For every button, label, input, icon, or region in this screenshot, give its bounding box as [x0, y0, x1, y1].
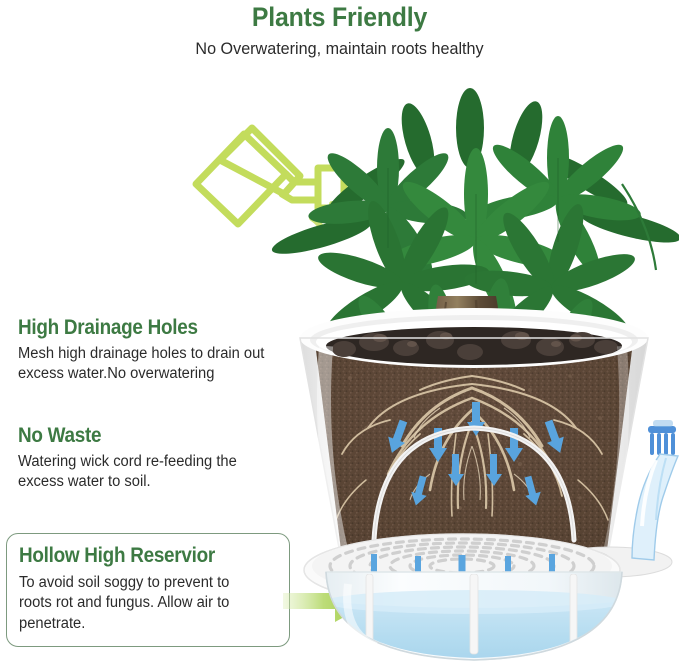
feature-body: To avoid soil soggy to prevent to roots …: [19, 573, 264, 634]
feature-heading: No Waste: [18, 424, 254, 448]
feature-no-waste: No Waste Watering wick cord re-feeding t…: [18, 424, 280, 493]
feature-body: Mesh high drainage holes to drain out ex…: [18, 344, 267, 385]
lava-rock-top-dressing: [326, 327, 622, 365]
feature-heading: Hollow High Reservior: [19, 544, 251, 568]
planter-illustration: [270, 88, 679, 664]
water-reservoir: [310, 572, 638, 664]
page-title: Plants Friendly: [27, 0, 652, 33]
blue-watering-spout-icon: [632, 420, 678, 560]
water-stream: [632, 454, 678, 560]
feature-hollow-high-reservior: Hollow High Reservior To avoid soil sogg…: [6, 533, 290, 647]
feature-heading: High Drainage Holes: [18, 316, 254, 340]
header: Plants Friendly No Overwatering, maintai…: [0, 0, 679, 59]
product-infographic: Plants Friendly No Overwatering, maintai…: [0, 0, 679, 664]
feature-body: Watering wick cord re-feeding the excess…: [18, 452, 267, 493]
page-subtitle: No Overwatering, maintain roots healthy: [17, 33, 662, 59]
feature-high-drainage-holes: High Drainage Holes Mesh high drainage h…: [18, 316, 280, 385]
